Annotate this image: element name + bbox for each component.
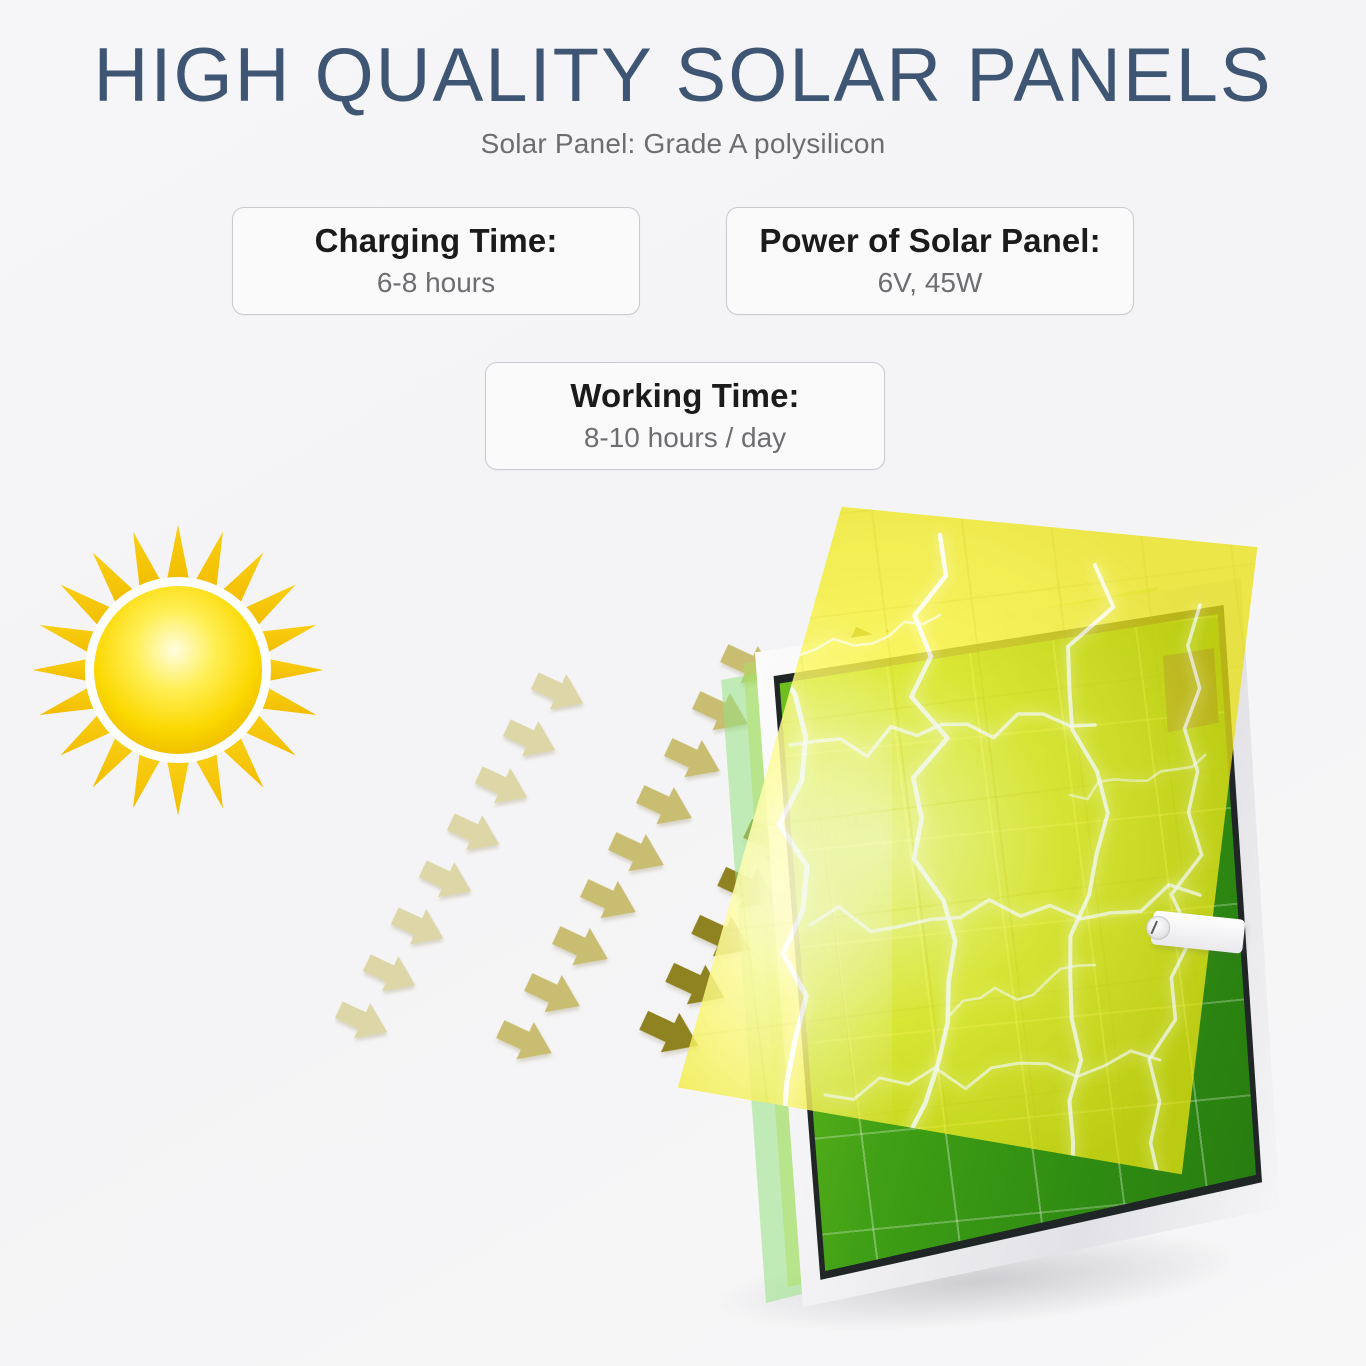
illustration-canvas: HIGH QUALITY SOLAR PANELS Solar Panel: G… <box>0 0 1366 1366</box>
energy-arrow <box>468 755 538 817</box>
energy-arrow <box>496 708 566 770</box>
spec-label: Working Time: <box>570 377 799 416</box>
spec-card-power-of-solar-panel: Power of Solar Panel: 6V, 45W <box>726 207 1134 315</box>
spec-label: Charging Time: <box>315 222 558 261</box>
spec-value: 6V, 45W <box>878 265 983 300</box>
sun-icon <box>28 520 328 820</box>
energy-arrow <box>328 990 398 1052</box>
page-title: HIGH QUALITY SOLAR PANELS <box>0 36 1366 116</box>
spec-value: 8-10 hours / day <box>584 420 786 455</box>
energy-arrow <box>524 661 594 723</box>
spec-card-charging-time: Charging Time: 6-8 hours <box>232 207 640 315</box>
energy-arrow <box>412 849 482 911</box>
spec-card-working-time: Working Time: 8-10 hours / day <box>485 362 885 470</box>
energy-arrow <box>440 802 510 864</box>
spec-label: Power of Solar Panel: <box>759 222 1100 261</box>
energy-arrow <box>384 896 454 958</box>
spec-value: 6-8 hours <box>377 265 495 300</box>
page-subtitle: Solar Panel: Grade A polysilicon <box>0 128 1366 160</box>
energy-arrow <box>356 943 426 1005</box>
solar-panel-illustration <box>640 495 1340 1335</box>
